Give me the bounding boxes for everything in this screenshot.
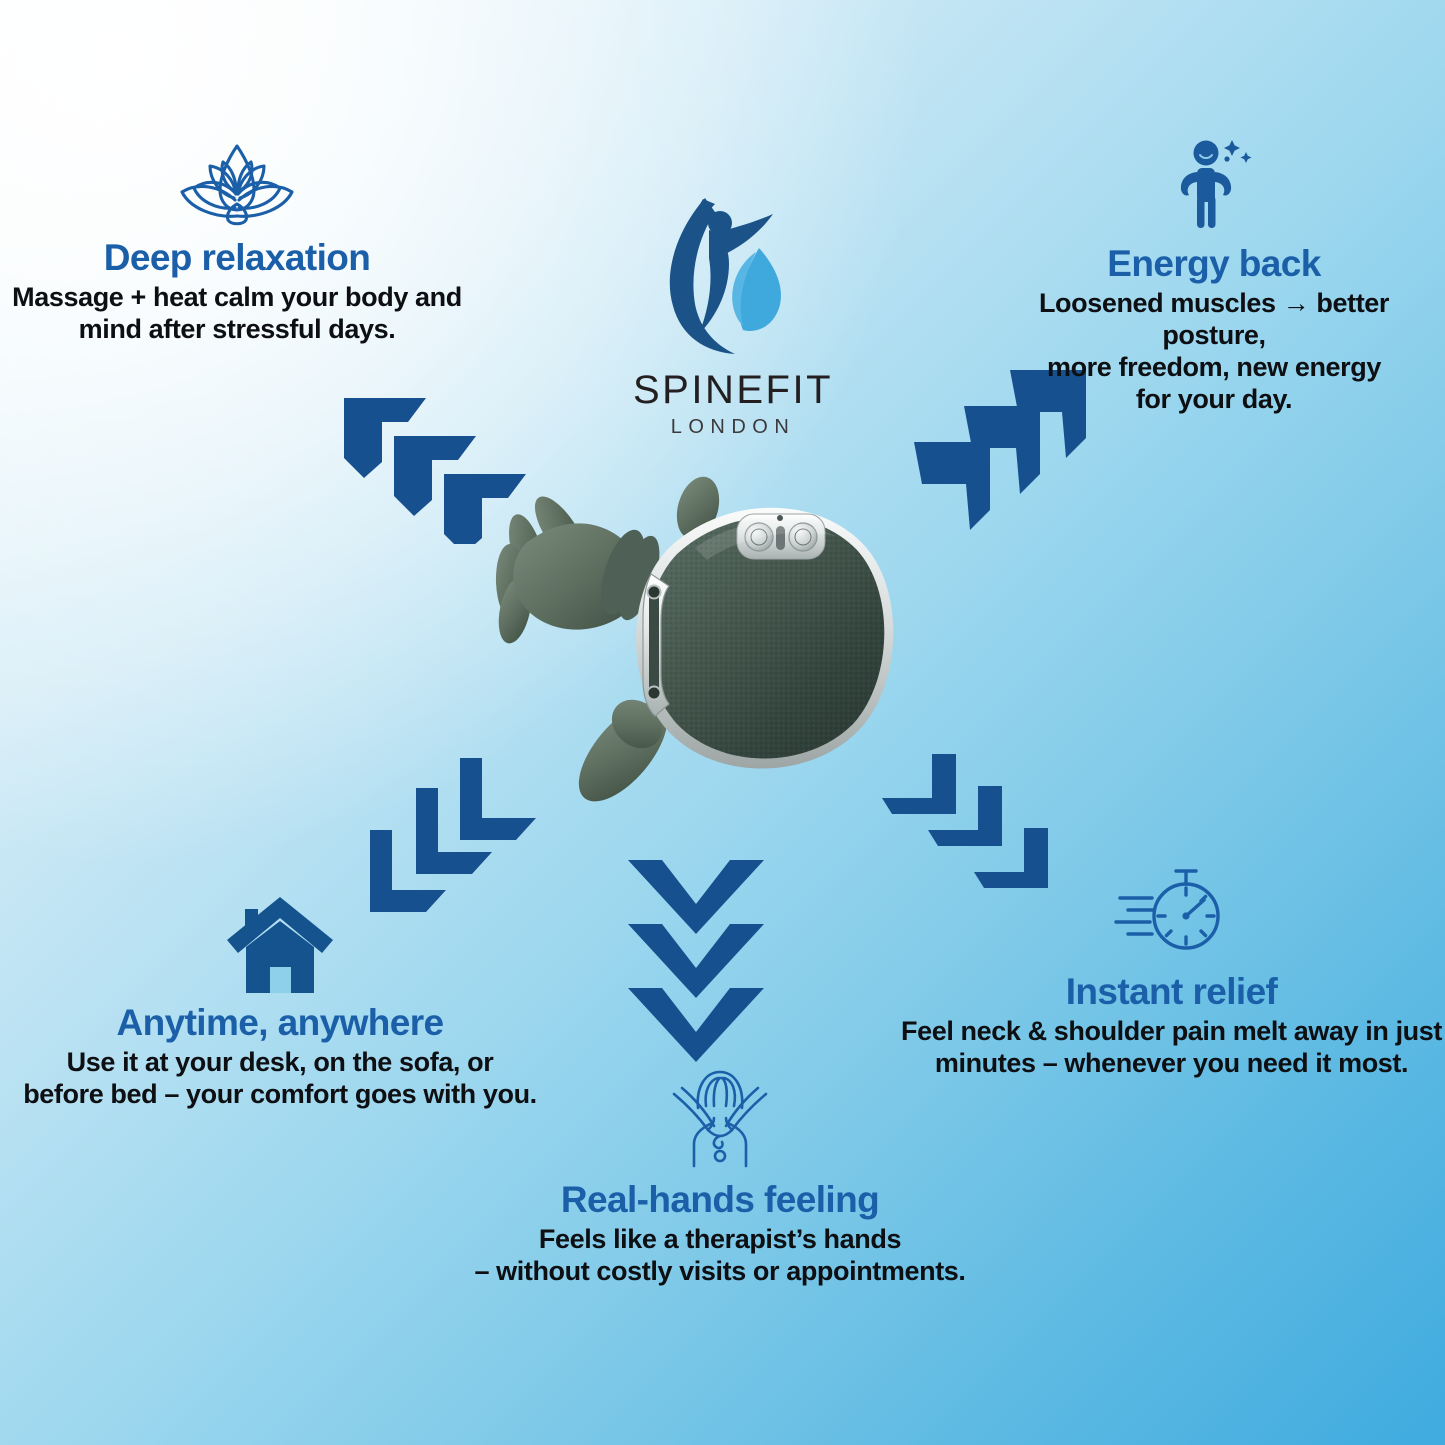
feature-real-hands-feeling: Real-hands feeling Feels like a therapis… xyxy=(440,1068,1000,1288)
feature-title: Energy back xyxy=(985,244,1443,284)
feature-description: Loosened muscles → better posture, more … xyxy=(985,288,1443,415)
chevron-arrows-down-icon xyxy=(606,846,786,1066)
feature-title: Anytime, anywhere xyxy=(0,1003,560,1043)
neck-shoulder-massager-product-image xyxy=(455,452,925,822)
lotus-flower-icon xyxy=(2,136,472,228)
feature-description: Feels like a therapist’s hands – without… xyxy=(440,1224,1000,1288)
feature-instant-relief: Instant relief Feel neck & shoulder pain… xyxy=(898,862,1445,1080)
feature-title: Deep relaxation xyxy=(2,238,472,278)
feature-deep-relaxation: Deep relaxation Massage + heat calm your… xyxy=(2,136,472,346)
stopwatch-speed-icon xyxy=(898,862,1445,962)
energetic-person-sparkles-icon xyxy=(985,136,1443,234)
feature-energy-back: Energy back Loosened muscles → better po… xyxy=(985,136,1443,415)
feature-description: Massage + heat calm your body and mind a… xyxy=(2,282,472,346)
spinefit-figure-droplet-logo xyxy=(643,348,823,365)
hands-massaging-neck-icon xyxy=(440,1068,1000,1170)
logo-wordmark: SPINEFIT xyxy=(608,368,858,413)
house-home-icon xyxy=(0,893,560,993)
feature-title: Instant relief xyxy=(898,972,1445,1012)
brand-logo: SPINEFIT LONDON xyxy=(608,186,858,439)
infographic-poster: SPINEFIT LONDON xyxy=(0,0,1445,1445)
feature-title: Real-hands feeling xyxy=(440,1180,1000,1220)
logo-subword: LONDON xyxy=(608,416,858,439)
